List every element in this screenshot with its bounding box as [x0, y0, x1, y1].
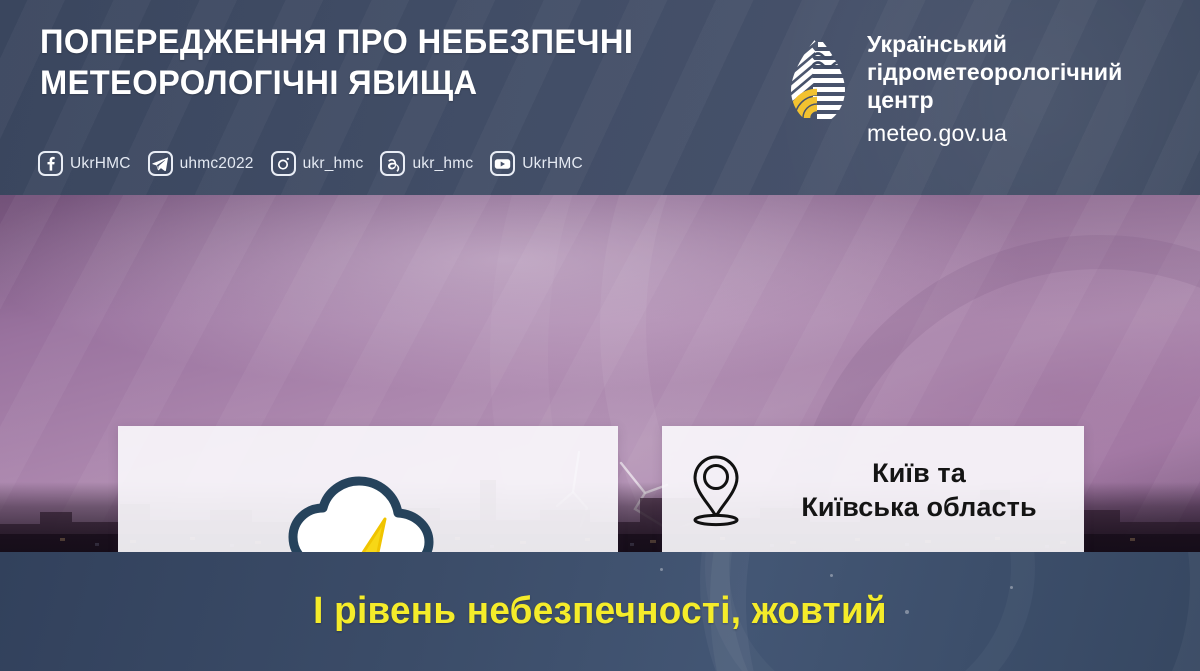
weather-warning-poster: ПОПЕРЕДЖЕННЯ ПРО НЕБЕЗПЕЧНІ МЕТЕОРОЛОГІЧ… — [0, 0, 1200, 671]
location-line-1: Київ та — [770, 456, 1068, 490]
youtube-icon — [490, 151, 515, 176]
social-handle-threads: ukr_hmc — [412, 155, 473, 173]
weather-phenomenon-card: Гроза — [118, 426, 618, 552]
facebook-icon — [38, 151, 63, 176]
brand-text: Український гідрометеорологічний центр m… — [867, 30, 1122, 148]
social-handle-instagram: ukr_hmc — [303, 155, 364, 173]
brand-block: Український гідрометеорологічний центр m… — [785, 30, 1122, 148]
page-title: ПОПЕРЕДЖЕННЯ ПРО НЕБЕЗПЕЧНІ МЕТЕОРОЛОГІЧ… — [40, 22, 770, 104]
brand-name-line-1: Український — [867, 30, 1122, 58]
map-pin-icon — [687, 452, 745, 528]
title-line-2: МЕТЕОРОЛОГІЧНІ ЯВИЩА — [40, 63, 741, 104]
title-line-1: ПОПЕРЕДЖЕННЯ ПРО НЕБЕЗПЕЧНІ — [40, 22, 741, 63]
danger-level-text: І рівень небезпечності, жовтий — [18, 552, 1182, 671]
brand-name-line-2: гідрометеорологічний — [867, 58, 1122, 86]
location-line-2: Київська область — [770, 490, 1068, 524]
ukrhmc-droplet-logo — [785, 34, 851, 128]
social-links-row: UkrHMC uhmc2022 ukr_hmc — [38, 151, 600, 176]
social-link-threads[interactable]: ukr_hmc — [380, 151, 473, 176]
photo-stage: Гроза Київ та Київська область — [0, 195, 1200, 552]
brand-url[interactable]: meteo.gov.ua — [867, 118, 1122, 148]
social-handle-youtube: UkrHMC — [522, 155, 583, 173]
location-card: Київ та Київська область — [662, 426, 1084, 552]
instagram-icon — [271, 151, 296, 176]
threads-icon — [380, 151, 405, 176]
danger-level-banner: І рівень небезпечності, жовтий — [0, 552, 1200, 671]
thunderstorm-cloud-lightning-icon — [273, 459, 463, 553]
social-link-instagram[interactable]: ukr_hmc — [271, 151, 364, 176]
header-bar: ПОПЕРЕДЖЕННЯ ПРО НЕБЕЗПЕЧНІ МЕТЕОРОЛОГІЧ… — [0, 0, 1200, 195]
telegram-icon — [148, 151, 173, 176]
location-text: Київ та Київська область — [770, 456, 1084, 524]
location-icon-wrap — [662, 452, 770, 528]
social-link-youtube[interactable]: UkrHMC — [490, 151, 583, 176]
brand-name-line-3: центр — [867, 86, 1122, 114]
social-handle-facebook: UkrHMC — [70, 155, 131, 173]
social-handle-telegram: uhmc2022 — [180, 155, 254, 173]
social-link-telegram[interactable]: uhmc2022 — [148, 151, 254, 176]
social-link-facebook[interactable]: UkrHMC — [38, 151, 131, 176]
